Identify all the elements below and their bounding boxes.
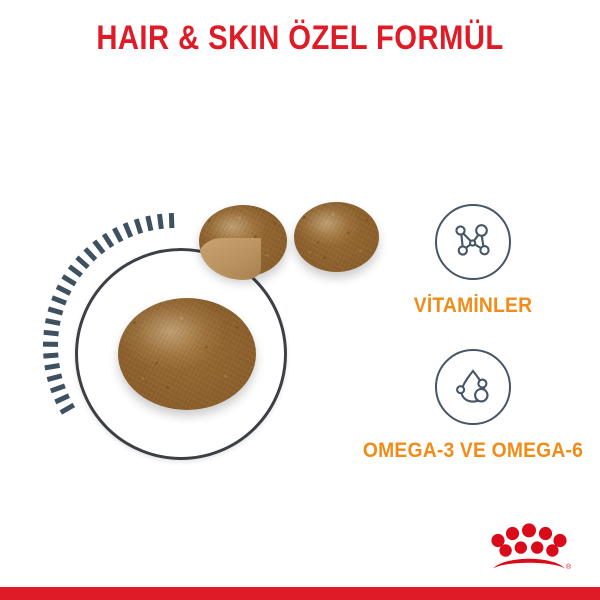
droplet-glyph xyxy=(448,362,498,412)
product-feature-banner: HAIR & SKIN ÖZEL FORMÜL xyxy=(0,0,600,600)
bottom-accent-bar xyxy=(0,587,600,600)
feature-vitamins-label: VİTAMİNLER xyxy=(353,294,592,318)
feature-omega-label: OMEGA-3 VE OMEGA-6 xyxy=(353,439,592,463)
molecule-glyph xyxy=(448,217,498,267)
feature-vitamins: VİTAMİNLER xyxy=(343,204,600,318)
royal-canin-crown-logo: ® xyxy=(487,522,571,574)
feature-omega: OMEGA-3 VE OMEGA-6 xyxy=(343,349,600,463)
magnified-kibble xyxy=(118,298,256,410)
omega-droplet-icon xyxy=(435,349,511,425)
kibble-texture xyxy=(118,298,256,410)
registered-trademark-mark: ® xyxy=(566,563,571,571)
molecule-vitamins-icon xyxy=(435,204,511,280)
page-title: HAIR & SKIN ÖZEL FORMÜL xyxy=(42,18,558,58)
